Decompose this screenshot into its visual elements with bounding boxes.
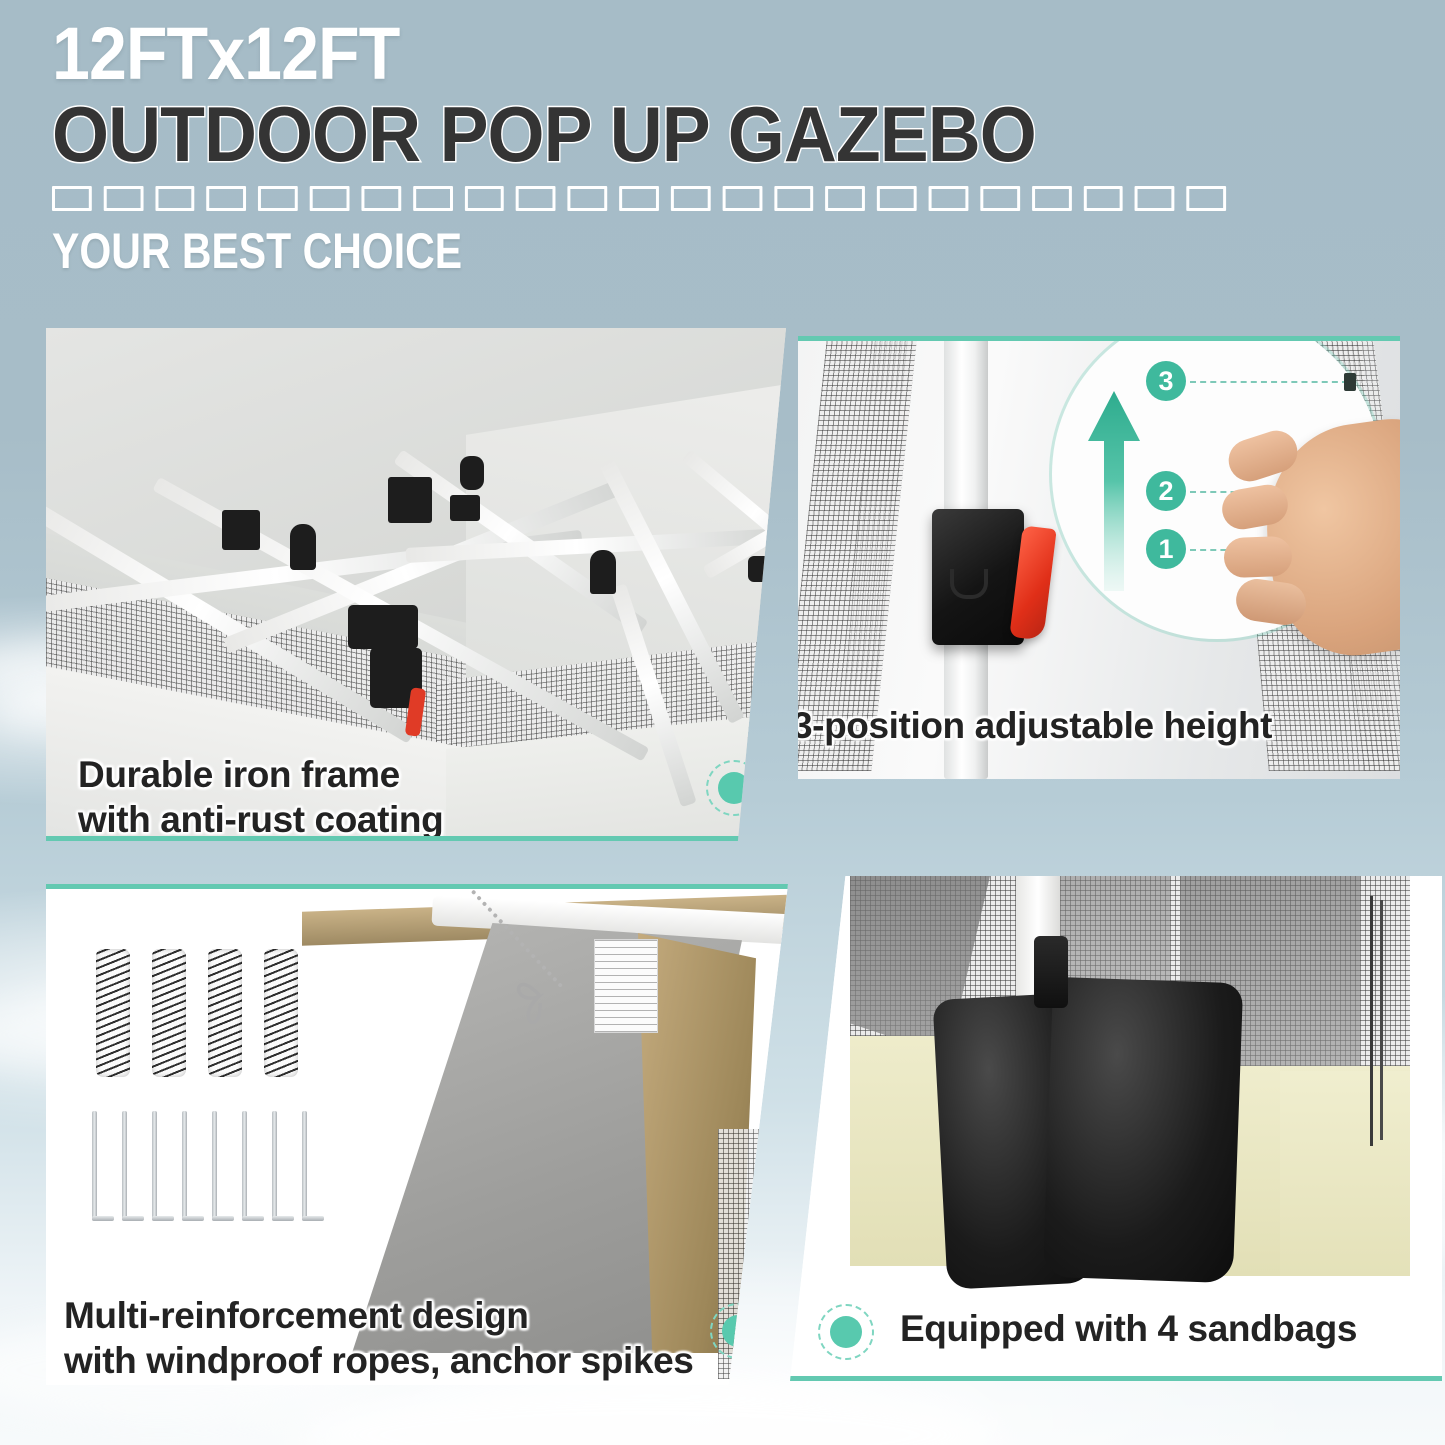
- care-label-tag: [594, 939, 658, 1033]
- divider-dash: [1135, 186, 1175, 211]
- panel-sandbags: Equipped with 4 sandbags: [790, 876, 1442, 1381]
- caption-line-2: with anti-rust coating: [78, 797, 443, 841]
- divider-dash: [671, 186, 711, 211]
- height-position-1: 1: [1146, 529, 1186, 569]
- title-dimensions: 12FTx12FT: [52, 14, 1285, 94]
- infographic-canvas: 12FTx12FT OUTDOOR POP UP GAZEBO YOUR BES…: [0, 0, 1445, 1445]
- cloud-puff: [300, 1380, 1000, 1445]
- rope-coil: [264, 949, 298, 1077]
- frame-connector: [460, 456, 484, 490]
- divider-dash: [361, 186, 401, 211]
- rope-coil: [208, 949, 242, 1077]
- anchor-spike: [92, 1111, 97, 1221]
- frame-connector: [450, 495, 480, 521]
- anchor-spike: [152, 1111, 157, 1221]
- anchor-spike: [212, 1111, 217, 1221]
- panel-adjustable-height: 3 2 1 3-position adjustable height: [798, 336, 1400, 779]
- divider-dash: [774, 186, 814, 211]
- caption-multi-reinforcement: Multi-reinforcement design with windproo…: [64, 1293, 693, 1383]
- teal-dot-icon: [706, 760, 762, 816]
- subtitle-tagline: YOUR BEST CHOICE: [52, 223, 1151, 279]
- divider-dash: [104, 186, 144, 211]
- divider-dash: [1083, 186, 1123, 211]
- caption-line-1: 3-position adjustable height: [798, 703, 1272, 748]
- panel-durable-iron-frame: Durable iron frame with anti-rust coatin…: [46, 328, 786, 841]
- divider-dash: [207, 186, 247, 211]
- frame-connector: [388, 477, 432, 523]
- divider-dash: [1032, 186, 1072, 211]
- frame-connector: [290, 524, 316, 570]
- caption-sandbags: Equipped with 4 sandbags: [900, 1306, 1357, 1351]
- up-arrow-icon: [1086, 391, 1142, 591]
- caption-line-1: Equipped with 4 sandbags: [900, 1306, 1357, 1351]
- panel-multi-reinforcement: Multi-reinforcement design with windproo…: [46, 884, 788, 1385]
- anchor-spike: [122, 1111, 127, 1221]
- divider-dash: [980, 186, 1020, 211]
- header-block: 12FTx12FT OUTDOOR POP UP GAZEBO YOUR BES…: [52, 14, 1392, 279]
- title-product: OUTDOOR POP UP GAZEBO: [52, 92, 1312, 176]
- frame-connector: [748, 556, 784, 582]
- rope-coil: [152, 949, 186, 1077]
- photo-sandbags: [790, 876, 1442, 1376]
- anchor-spike: [302, 1111, 307, 1221]
- frame-connector: [348, 605, 418, 649]
- caption-line-2: with windproof ropes, anchor spikes: [64, 1338, 693, 1383]
- caption-durable-iron-frame: Durable iron frame with anti-rust coatin…: [78, 752, 443, 841]
- divider-dash: [722, 186, 762, 211]
- divider-dash: [516, 186, 556, 211]
- divider-dash: [52, 186, 92, 211]
- divider-dash: [155, 186, 195, 211]
- lead-line-3: [1190, 381, 1348, 383]
- teal-dot-icon: [710, 1303, 766, 1359]
- sandbag-strap: [1034, 936, 1068, 1008]
- divider-dash: [413, 186, 453, 211]
- divider-dash: [826, 186, 866, 211]
- caption-adjustable-height: 3-position adjustable height: [798, 703, 1272, 748]
- divider-dash: [310, 186, 350, 211]
- height-position-3: 3: [1146, 361, 1186, 401]
- divider-dash: [929, 186, 969, 211]
- divider-dash: [465, 186, 505, 211]
- caption-line-1: Multi-reinforcement design: [64, 1293, 693, 1338]
- divider-dash: [619, 186, 659, 211]
- caption-line-1: Durable iron frame: [78, 752, 443, 797]
- anchor-spike: [272, 1111, 277, 1221]
- anchor-spike: [242, 1111, 247, 1221]
- frame-connector: [590, 550, 616, 594]
- frame-connector: [222, 510, 260, 550]
- height-position-2: 2: [1146, 471, 1186, 511]
- anchor-spike: [182, 1111, 187, 1221]
- rope-coil: [96, 949, 130, 1077]
- divider-dash: [568, 186, 608, 211]
- divider-dash: [877, 186, 917, 211]
- dashed-divider: [52, 188, 1226, 209]
- divider-dash: [258, 186, 298, 211]
- divider-dash: [1187, 186, 1227, 211]
- sandbag: [1043, 977, 1243, 1283]
- teal-dot-icon: [818, 1304, 874, 1360]
